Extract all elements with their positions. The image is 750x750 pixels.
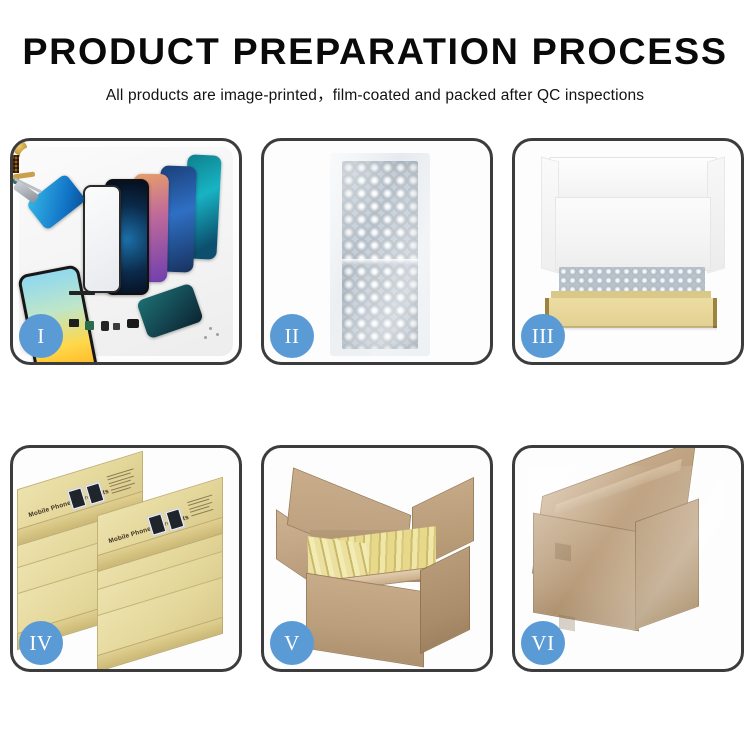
process-panel-grid: I II III (10, 138, 745, 672)
screw-icon (204, 336, 207, 339)
carton-handle-cutout-icon (559, 615, 575, 632)
carton-front-face-icon (306, 573, 424, 668)
header: PRODUCT PREPARATION PROCESS All products… (0, 30, 750, 105)
ic-chip-part-icon (69, 319, 79, 327)
process-step-panel-2[interactable]: II (261, 138, 493, 365)
camera-module-part-icon (127, 319, 139, 328)
kraft-tray-shadow-icon (545, 326, 717, 331)
step-badge-3: III (521, 314, 565, 358)
screw-icon (216, 333, 219, 336)
process-step-panel-5[interactable]: V (261, 445, 493, 672)
bubble-wrap-gloss-icon (330, 153, 430, 356)
step-badge-2: II (270, 314, 314, 358)
step-badge-4: IV (19, 621, 63, 665)
sealed-carton-side-icon (635, 498, 699, 629)
process-step-panel-3[interactable]: III (512, 138, 744, 365)
step-badge-1: I (19, 314, 63, 358)
screw-icon (209, 327, 212, 330)
step-badge-5: V (270, 621, 314, 665)
box-lid-inner-icon (555, 197, 711, 271)
flex-strip-part-icon (69, 291, 95, 295)
carton-handle-cutout-icon (555, 543, 571, 562)
process-step-panel-1[interactable]: I (10, 138, 242, 365)
bubble-wrap-in-box-icon (559, 267, 705, 293)
kraft-tray-front-icon (545, 298, 717, 328)
page-subtitle: All products are image-printed，film-coat… (0, 83, 750, 105)
speaker-part-icon (101, 321, 109, 331)
vibrator-part-icon (113, 323, 120, 330)
pcb-chip-part-icon (85, 321, 94, 330)
sealed-carton-front-icon (533, 513, 639, 632)
step-badge-6: VI (521, 621, 565, 665)
process-step-panel-4[interactable]: Mobile Phone Spare Parts Mobile Phone Sp… (10, 445, 242, 672)
process-step-panel-6[interactable]: VI (512, 445, 744, 672)
screen-protector-glass-icon (83, 185, 121, 293)
page-title: PRODUCT PREPARATION PROCESS (0, 30, 750, 74)
infographic-page: PRODUCT PREPARATION PROCESS All products… (0, 0, 750, 750)
